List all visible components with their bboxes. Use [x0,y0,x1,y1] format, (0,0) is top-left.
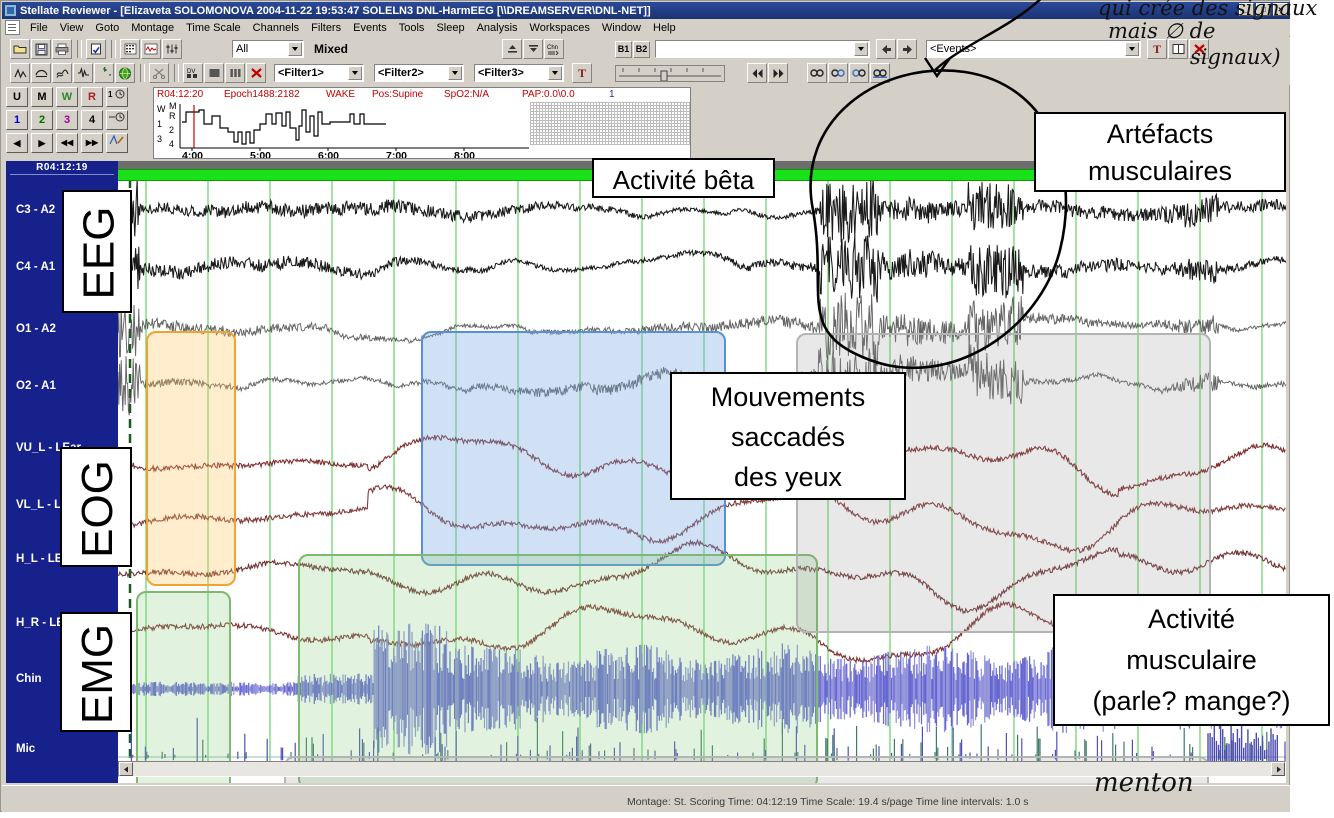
b2-button[interactable]: B2 [633,41,650,58]
menu-analysis[interactable]: Analysis [471,21,524,35]
properties-icon[interactable] [86,39,106,59]
highlight-beta-left [146,331,236,586]
open-icon[interactable] [10,39,30,59]
menu-file[interactable]: File [24,21,54,35]
save-icon[interactable] [31,39,51,59]
find-icon[interactable] [807,63,827,83]
menu-events[interactable]: Events [347,21,393,35]
stage-r-button[interactable]: R [81,87,103,107]
callout-beta-activity: Activité bêta [592,158,775,198]
event-value-combo[interactable] [655,40,870,58]
svg-text:1: 1 [108,90,113,99]
handwriting-line-3: signaux) [1190,45,1281,69]
callout-muscle-activity: Activité musculaire (parle? mange?) [1053,594,1330,726]
callout-muscle-activity-line3: (parle? mange?) [1065,681,1318,722]
stage-4-button[interactable]: 4 [81,110,103,130]
undo-icon[interactable] [94,63,114,83]
hypnogram-spo2: SpO2:N/A [444,89,489,100]
group-label-eeg-text: EEG [65,192,135,315]
hypnogram-position: Pos:Supine [372,89,423,100]
screenshot-root: Stellate Reviewer - [Elizaveta SOLOMONOV… [0,0,1334,818]
chevron-down-icon[interactable] [348,66,362,80]
find-next-icon[interactable] [828,63,848,83]
svg-text:7:00: 7:00 [386,150,407,159]
hypnogram-stage: WAKE [326,89,355,100]
events-combo-value: <Events> [930,43,976,55]
rewind-button[interactable]: ◀◀ [56,133,78,153]
svg-text:Chn: Chn [547,45,558,51]
status-text: Montage: St. Scoring Time: 04:12:19 Time… [627,796,1029,808]
menu-window[interactable]: Window [596,21,647,35]
filter2-value: <Filter2> [378,67,424,79]
menu-time-scale[interactable]: Time Scale [180,21,247,35]
stage-1-button[interactable]: 1 [6,110,28,130]
highlight-eog-main [298,554,818,783]
navpad-row-transport: ◀ ▶ ◀◀ ▶▶ [6,133,146,153]
handwriting-line-2: mais ∅ de [1108,19,1215,43]
callout-eye-movements-line3: des yeux [682,457,894,497]
callout-muscle-artifacts: Artéfacts musculaires [1034,112,1286,192]
hypnogram-epoch: Epoch1488:2182 [224,89,300,100]
callout-eye-movements-line1: Mouvements [682,377,894,417]
channel-label-chin: Chin [16,673,42,685]
waveform-icon[interactable] [141,39,161,59]
filter1-value: <Filter1> [278,67,324,79]
document-icon [5,20,20,35]
navigation-pad: U M W R 1 1 2 3 4 ◀ ▶ ◀◀ ▶▶ [6,87,146,159]
time-scale-slider[interactable] [615,65,725,82]
svg-text:1: 1 [157,119,162,129]
toolbar-row-1: All Mixed Chn B1 B2 [2,37,1290,61]
montage-select-value: All [236,43,248,55]
scroll-right-button[interactable] [1271,762,1285,776]
menu-sleep[interactable]: Sleep [430,21,470,35]
hypnogram-header: R04:12:20 Epoch1488:2182 WAKE Pos:Supine… [154,88,690,102]
group-label-eog: EOG [60,447,132,567]
menu-workspaces[interactable]: Workspaces [524,21,596,35]
grid-icon[interactable] [120,39,140,59]
group-label-eog-text: EOG [62,449,134,569]
svg-text:6:00: 6:00 [318,150,339,159]
callout-muscle-artifacts-line2: musculaires [1046,153,1274,190]
text-tool-icon[interactable]: T [572,63,592,83]
svg-text:5:00: 5:00 [250,150,271,159]
callout-eye-movements-line2: saccadés [682,417,894,457]
pencil-icon[interactable] [106,133,128,153]
rewind-icon[interactable] [747,63,767,83]
handwriting-line-1: qui crée des signaux [1098,0,1317,20]
svg-text:T: T [578,67,586,79]
svg-text:R: R [169,111,176,121]
toolbar-separator [174,64,179,82]
filter3-value: <Filter3> [478,67,524,79]
stage-m-button[interactable]: M [31,87,53,107]
stage-2-button[interactable]: 2 [31,110,53,130]
menu-view[interactable]: View [54,21,90,35]
svg-text:4: 4 [169,139,174,149]
chevron-down-icon[interactable] [448,66,462,80]
group-label-eeg: EEG [62,190,132,313]
toolbar-row-2: DV <Filter1> <Filter2> <Filt [2,61,1290,85]
next-event-icon[interactable] [897,39,917,59]
menu-tools[interactable]: Tools [393,21,431,35]
channel-label-o2: O2 - A1 [16,380,56,392]
mode-label: Mixed [314,42,348,56]
svg-text:4:00: 4:00 [182,150,203,159]
navpad-row-numbers: 1 2 3 4 [6,110,146,130]
b1-button[interactable]: B1 [615,41,632,58]
red-x-icon[interactable] [246,63,266,83]
navpad-row-stages: U M W R 1 [6,87,146,107]
find-prev-icon[interactable] [849,63,869,83]
globe-icon[interactable] [115,63,135,83]
hypnogram-index: 1 [609,89,615,100]
menu-goto[interactable]: Goto [89,21,125,35]
spikewave-icon[interactable] [73,63,93,83]
dv-icon[interactable]: DV [183,63,203,83]
menu-filters[interactable]: Filters [305,21,347,35]
title-bar: Stellate Reviewer - [Elizaveta SOLOMONOV… [2,2,1290,19]
montage-select[interactable]: All [232,40,304,58]
scissors-icon[interactable] [149,63,169,83]
hypnogram-pap: PAP:0.0\0.0 [522,89,575,100]
group-label-emg-text: EMG [62,614,134,734]
stage-w-button[interactable]: W [56,87,78,107]
next-epoch-button[interactable]: ▶ [31,133,53,153]
fast-forward-button[interactable]: ▶▶ [81,133,103,153]
filter1-select[interactable]: <Filter1> [274,64,364,82]
scroll-left-button[interactable] [119,762,133,776]
clamp-icon[interactable] [31,63,51,83]
menu-channels[interactable]: Channels [247,21,305,35]
app-icon [4,4,17,17]
filter2-select[interactable]: <Filter2> [374,64,464,82]
svg-text:2: 2 [169,125,174,135]
svg-text:8:00: 8:00 [454,150,475,159]
channel-label-c4: C4 - A1 [16,261,55,273]
window-title: Stellate Reviewer - [Elizaveta SOLOMONOV… [20,5,651,17]
hypnogram-panel[interactable]: R04:12:20 Epoch1488:2182 WAKE Pos:Supine… [153,87,691,159]
find-all-icon[interactable] [870,63,890,83]
callout-muscle-artifacts-line1: Artéfacts [1046,116,1274,153]
clock-icon[interactable] [106,110,128,130]
wave-icon[interactable] [52,63,72,83]
svg-text:T: T [1153,43,1161,55]
channel-icon[interactable]: Chn [544,39,564,59]
callout-eye-movements: Mouvements saccadés des yeux [670,372,906,500]
group-label-emg: EMG [60,612,132,732]
hypnogram-graph: W13 MR24 4:005:006:00 7:008:00 [154,102,690,159]
stage-3-button[interactable]: 3 [56,110,78,130]
channel-label-c3: C3 - A2 [16,204,55,216]
menu-montage[interactable]: Montage [125,21,180,35]
toolbar-separator [140,64,145,82]
handwriting-chin: menton [1094,768,1194,798]
prev-epoch-button[interactable]: ◀ [6,133,28,153]
prev-event-icon[interactable] [876,39,896,59]
spike-icon[interactable] [10,63,30,83]
svg-text:M: M [169,102,177,111]
toolbar-separator [77,40,82,58]
callout-muscle-activity-line1: Activité [1065,599,1318,640]
chevron-down-icon[interactable] [854,42,868,56]
page-up-icon[interactable] [502,39,522,59]
highlight-eog-left [136,591,231,783]
chevron-down-icon[interactable] [288,42,302,56]
block-icon[interactable] [204,63,224,83]
stage-u-button[interactable]: U [6,87,28,107]
menu-help[interactable]: Help [647,21,682,35]
filter3-select[interactable]: <Filter3> [474,64,564,82]
trace-time-header: R04:12:19 [10,161,114,175]
settings-icon[interactable] [162,39,182,59]
forward-icon[interactable] [768,63,788,83]
print-icon[interactable] [52,39,72,59]
columns-icon[interactable] [225,63,245,83]
svg-text:3: 3 [157,134,162,144]
callout-muscle-activity-line2: musculaire [1065,640,1318,681]
chevron-down-icon[interactable] [548,66,562,80]
menu-bar: File View Goto Montage Time Scale Channe… [2,19,1290,36]
hypnogram-time: R04:12:20 [157,89,203,100]
channel-label-o1: O1 - A2 [16,323,56,335]
svg-text:W: W [157,104,166,114]
epoch-clock-icon[interactable]: 1 [106,87,128,107]
channel-label-mic: Mic [16,743,35,755]
page-down-icon[interactable] [523,39,543,59]
chevron-down-icon[interactable] [1125,42,1139,56]
toolbar-separator [111,40,116,58]
